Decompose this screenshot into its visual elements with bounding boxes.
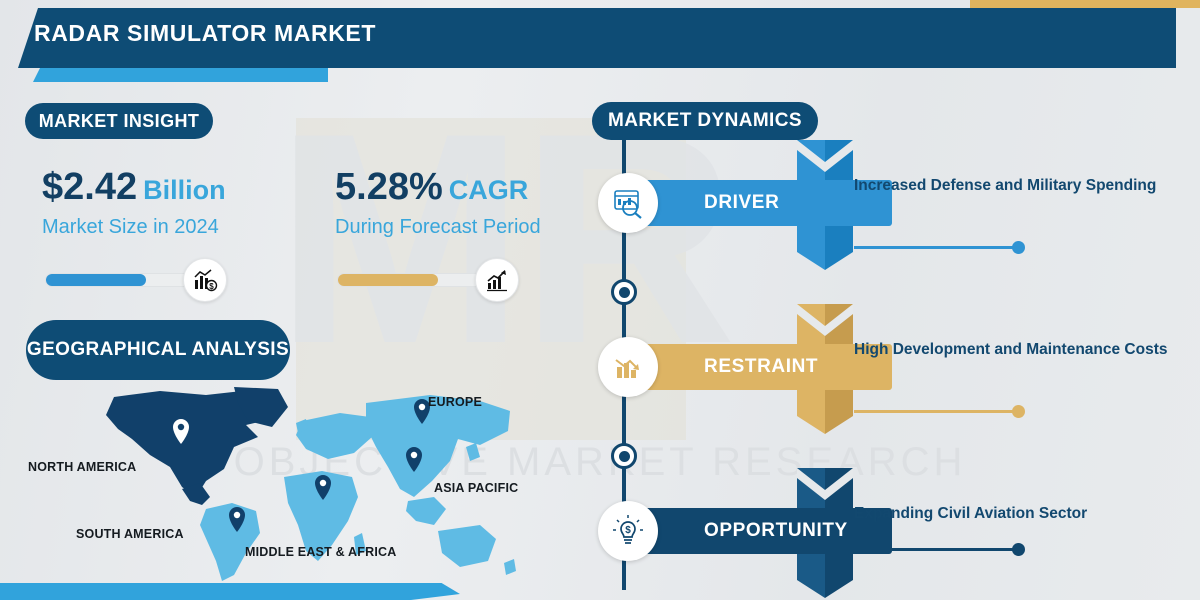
dynamics-text-driver: Increased Defense and Military Spending <box>854 174 1184 198</box>
declining-bar-chart-icon <box>598 337 658 397</box>
market-insight-pill: MARKET INSIGHT <box>25 103 213 139</box>
footer-accent-bar <box>0 583 460 600</box>
geographical-analysis-pill-label: GEOGRAPHICAL ANALYSIS <box>27 339 289 361</box>
map-region-australia <box>438 525 496 567</box>
progress-fill <box>46 274 146 286</box>
market-dynamics-pill: MARKET DYNAMICS <box>592 102 818 140</box>
svg-text:$: $ <box>625 525 631 536</box>
dynamics-text-restraint: High Development and Maintenance Costs <box>854 338 1184 362</box>
dynamics-dot-restraint <box>1012 405 1025 418</box>
market-dynamics-pill-label: MARKET DYNAMICS <box>608 110 802 132</box>
header-accent-bar <box>33 68 328 82</box>
dynamics-underline-restraint <box>854 410 1019 413</box>
map-label-asia-pacific: ASIA PACIFIC <box>434 481 518 495</box>
dynamics-underline-driver <box>854 246 1019 249</box>
dynamics-label-opportunity: OPPORTUNITY <box>704 520 848 542</box>
dynamics-label-restraint: RESTRAINT <box>704 356 818 378</box>
growth-chart-icon <box>475 258 519 302</box>
stat-market-size-sub: Market Size in 2024 <box>42 216 226 239</box>
dynamics-node-2 <box>611 443 637 469</box>
market-insight-pill-label: MARKET INSIGHT <box>39 111 200 132</box>
dynamics-dot-driver <box>1012 241 1025 254</box>
map-label-south-america: SOUTH AMERICA <box>76 527 184 541</box>
lightbulb-dollar-icon: $ <box>598 501 658 561</box>
stat-market-size-progress: $ <box>45 258 227 302</box>
map-label-middle-east-africa: MIDDLE EAST & AFRICA <box>245 545 396 559</box>
top-gold-accent <box>970 0 1200 8</box>
stat-market-size-value: $2.42 <box>42 166 137 208</box>
market-research-magnifier-icon <box>598 173 658 233</box>
stat-cagr-unit: CAGR <box>449 175 529 205</box>
dynamics-label-driver: DRIVER <box>704 192 779 214</box>
map-label-north-america: NORTH AMERICA <box>28 460 136 474</box>
progress-track <box>45 273 197 287</box>
map-region-southeast-asia <box>406 497 446 525</box>
geographical-analysis-pill: GEOGRAPHICAL ANALYSIS <box>26 320 290 380</box>
bar-chart-dollar-icon: $ <box>183 258 227 302</box>
stat-market-size: $2.42Billion Market Size in 2024 <box>42 168 226 239</box>
dynamics-bar-driver[interactable]: DRIVER <box>632 180 892 226</box>
dynamics-dot-opportunity <box>1012 543 1025 556</box>
dynamics-text-opportunity: Expanding Civil Aviation Sector <box>854 502 1184 526</box>
progress-fill <box>338 274 438 286</box>
page-title: RADAR SIMULATOR MARKET <box>34 20 376 47</box>
map-region-japan <box>466 443 480 461</box>
stat-cagr-sub: During Forecast Period <box>335 216 541 239</box>
dynamics-bar-restraint[interactable]: RESTRAINT <box>632 344 892 390</box>
stat-cagr-progress <box>337 258 519 302</box>
map-label-europe: EUROPE <box>428 395 482 409</box>
map-region-new-zealand <box>504 559 516 575</box>
dynamics-node-1 <box>611 279 637 305</box>
stat-cagr: 5.28%CAGR During Forecast Period <box>335 168 541 239</box>
map-region-europe <box>296 413 372 459</box>
infographic-canvas: M R OBJECTIVE MARKET RESEARCH RADAR SIMU… <box>0 0 1200 600</box>
dynamics-underline-opportunity <box>854 548 1019 551</box>
stat-cagr-value: 5.28% <box>335 166 443 208</box>
progress-track <box>337 273 489 287</box>
dynamics-bar-opportunity[interactable]: $ OPPORTUNITY <box>632 508 892 554</box>
svg-text:$: $ <box>209 282 214 291</box>
stat-market-size-headline: $2.42Billion <box>42 168 226 206</box>
stat-market-size-unit: Billion <box>143 175 226 205</box>
stat-cagr-headline: 5.28%CAGR <box>335 168 541 206</box>
